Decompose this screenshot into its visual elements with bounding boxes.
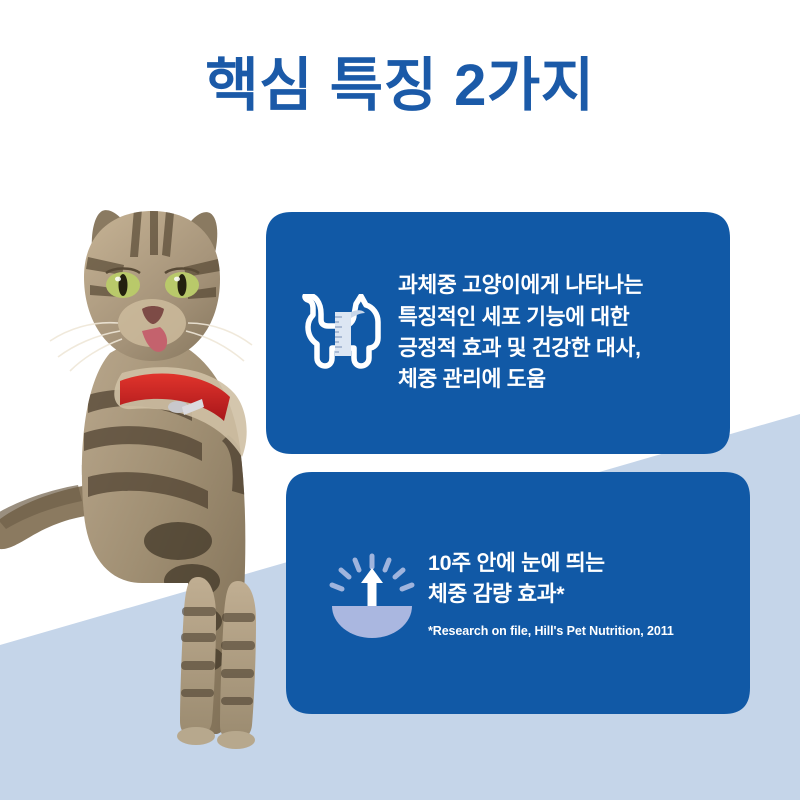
feature-card-1: 과체중 고양이에게 나타나는 특징적인 세포 기능에 대한 긍정적 효과 및 건… [266, 212, 730, 454]
page-title: 핵심 특징 2가지 [0, 55, 800, 118]
promo-banner: 핵심 특징 2가지 [0, 0, 800, 800]
card-1-text: 과체중 고양이에게 나타나는 특징적인 세포 기능에 대한 긍정적 효과 및 건… [398, 270, 730, 396]
weight-loss-bowl-arrow-icon [316, 552, 428, 638]
cat-measuring-tape-icon [286, 294, 398, 372]
card-2-body: 10주 안에 눈에 띄는 체중 감량 효과* [428, 548, 750, 610]
up-arrow-icon [361, 568, 383, 606]
cat-front-leg-left [180, 577, 216, 736]
bowl-icon [332, 606, 412, 638]
feature-card-2: 10주 안에 눈에 띄는 체중 감량 효과* *Research on file… [286, 472, 750, 714]
card-2-footnote: *Research on file, Hill's Pet Nutrition,… [428, 624, 750, 638]
card-1-body: 과체중 고양이에게 나타나는 특징적인 세포 기능에 대한 긍정적 효과 및 건… [398, 270, 730, 396]
cat-front-leg-right [220, 581, 256, 740]
card-2-text: 10주 안에 눈에 띄는 체중 감량 효과* *Research on file… [428, 548, 750, 638]
